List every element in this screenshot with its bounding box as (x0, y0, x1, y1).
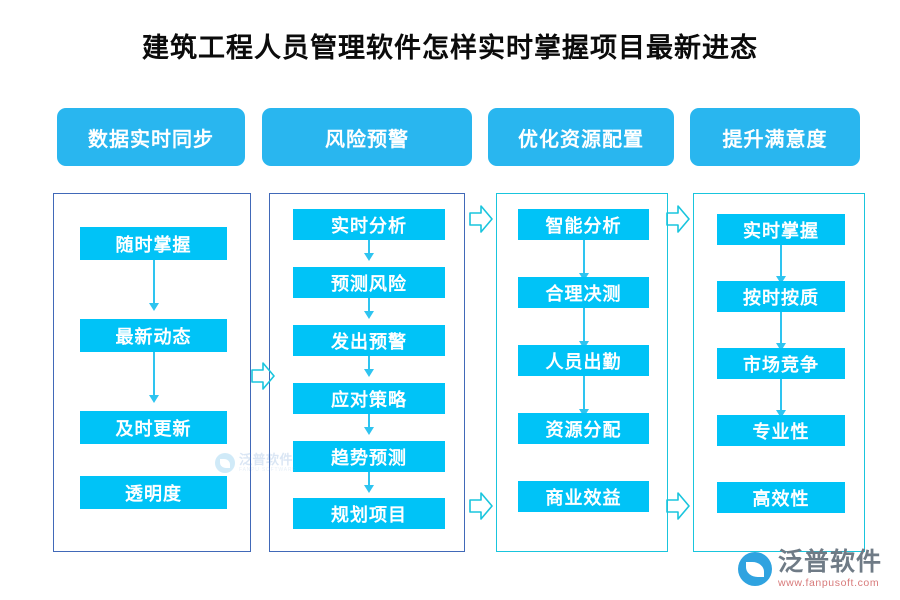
vertical-flow-arrow-icon (153, 352, 155, 396)
flow-node-label: 实时掌握 (743, 217, 819, 243)
vertical-flow-arrow-icon (368, 298, 370, 312)
brand-logo-text: 泛普软件 www.fanpusoft.com (778, 550, 882, 589)
vertical-flow-arrow-icon (153, 260, 155, 304)
flow-node[interactable]: 人员出勤 (518, 345, 649, 376)
flow-node-label: 按时按质 (743, 284, 819, 310)
flow-node-label: 资源分配 (546, 416, 622, 442)
column-flow-arrow-icon (665, 203, 691, 235)
flow-node[interactable]: 发出预警 (293, 325, 445, 356)
flow-column-0: 随时掌握最新动态及时更新透明度 (53, 193, 251, 552)
flow-column-3: 实时掌握按时按质市场竞争专业性高效性 (693, 193, 865, 552)
vertical-flow-arrow-icon (583, 240, 585, 274)
vertical-flow-arrow-icon (368, 356, 370, 370)
flow-node-label: 趋势预测 (331, 444, 407, 470)
flow-node[interactable]: 合理决测 (518, 277, 649, 308)
flow-node-label: 应对策略 (331, 386, 407, 412)
header-pill-1[interactable]: 风险预警 (262, 108, 472, 166)
flow-node[interactable]: 按时按质 (717, 281, 845, 312)
vertical-flow-arrow-icon (583, 376, 585, 410)
vertical-flow-arrow-icon (583, 308, 585, 342)
flow-node[interactable]: 高效性 (717, 482, 845, 513)
flow-node-label: 最新动态 (116, 323, 192, 349)
flow-node[interactable]: 及时更新 (80, 411, 227, 444)
flow-node-label: 规划项目 (331, 501, 407, 527)
flow-node[interactable]: 实时掌握 (717, 214, 845, 245)
flow-node[interactable]: 预测风险 (293, 267, 445, 298)
flow-node-label: 人员出勤 (546, 348, 622, 374)
flow-node-label: 预测风险 (331, 270, 407, 296)
brand-logo-icon (738, 552, 772, 586)
flow-node[interactable]: 透明度 (80, 476, 227, 509)
header-pill-3[interactable]: 提升满意度 (690, 108, 860, 166)
corner-logo: 泛普软件 www.fanpusoft.com (738, 550, 882, 589)
page-title: 建筑工程人员管理软件怎样实时掌握项目最新进态 (0, 26, 900, 65)
flow-node-label: 实时分析 (331, 212, 407, 238)
vertical-flow-arrow-icon (780, 312, 782, 344)
flow-node[interactable]: 趋势预测 (293, 441, 445, 472)
brand-name-cn: 泛普软件 (778, 550, 882, 575)
header-pill-label: 数据实时同步 (88, 123, 214, 152)
flow-node-label: 高效性 (753, 485, 810, 511)
vertical-flow-arrow-icon (368, 472, 370, 486)
vertical-flow-arrow-icon (368, 414, 370, 428)
header-pill-label: 提升满意度 (723, 123, 828, 152)
flow-node-label: 商业效益 (546, 484, 622, 510)
column-flow-arrow-icon (665, 490, 691, 522)
flow-node[interactable]: 规划项目 (293, 498, 445, 529)
vertical-flow-arrow-icon (780, 379, 782, 411)
vertical-flow-arrow-icon (368, 240, 370, 254)
header-pill-label: 优化资源配置 (518, 123, 644, 152)
flow-node[interactable]: 实时分析 (293, 209, 445, 240)
header-pill-row: 数据实时同步 风险预警 优化资源配置 提升满意度 (0, 108, 900, 166)
flow-node-label: 随时掌握 (116, 231, 192, 257)
header-pill-2[interactable]: 优化资源配置 (488, 108, 674, 166)
flow-column-2: 智能分析合理决测人员出勤资源分配商业效益 (496, 193, 668, 552)
flow-node[interactable]: 专业性 (717, 415, 845, 446)
flow-node[interactable]: 市场竞争 (717, 348, 845, 379)
column-flow-arrow-icon (468, 203, 494, 235)
flow-node-label: 合理决测 (546, 280, 622, 306)
vertical-flow-arrow-icon (780, 245, 782, 277)
flow-node-label: 透明度 (125, 480, 182, 506)
column-flow-arrow-icon (468, 490, 494, 522)
column-flow-arrow-icon (250, 360, 276, 392)
flow-node-label: 市场竞争 (743, 351, 819, 377)
header-pill-label: 风险预警 (325, 123, 409, 152)
flow-node-label: 发出预警 (331, 328, 407, 354)
brand-website-url: www.fanpusoft.com (778, 578, 882, 589)
flow-node[interactable]: 智能分析 (518, 209, 649, 240)
flow-node-label: 智能分析 (546, 212, 622, 238)
flow-column-1: 实时分析预测风险发出预警应对策略趋势预测规划项目 (269, 193, 465, 552)
flow-node[interactable]: 最新动态 (80, 319, 227, 352)
flow-node[interactable]: 资源分配 (518, 413, 649, 444)
flow-node[interactable]: 随时掌握 (80, 227, 227, 260)
header-pill-0[interactable]: 数据实时同步 (57, 108, 245, 166)
flow-node[interactable]: 应对策略 (293, 383, 445, 414)
flow-node-label: 专业性 (753, 418, 810, 444)
flow-node[interactable]: 商业效益 (518, 481, 649, 512)
flow-node-label: 及时更新 (116, 415, 192, 441)
